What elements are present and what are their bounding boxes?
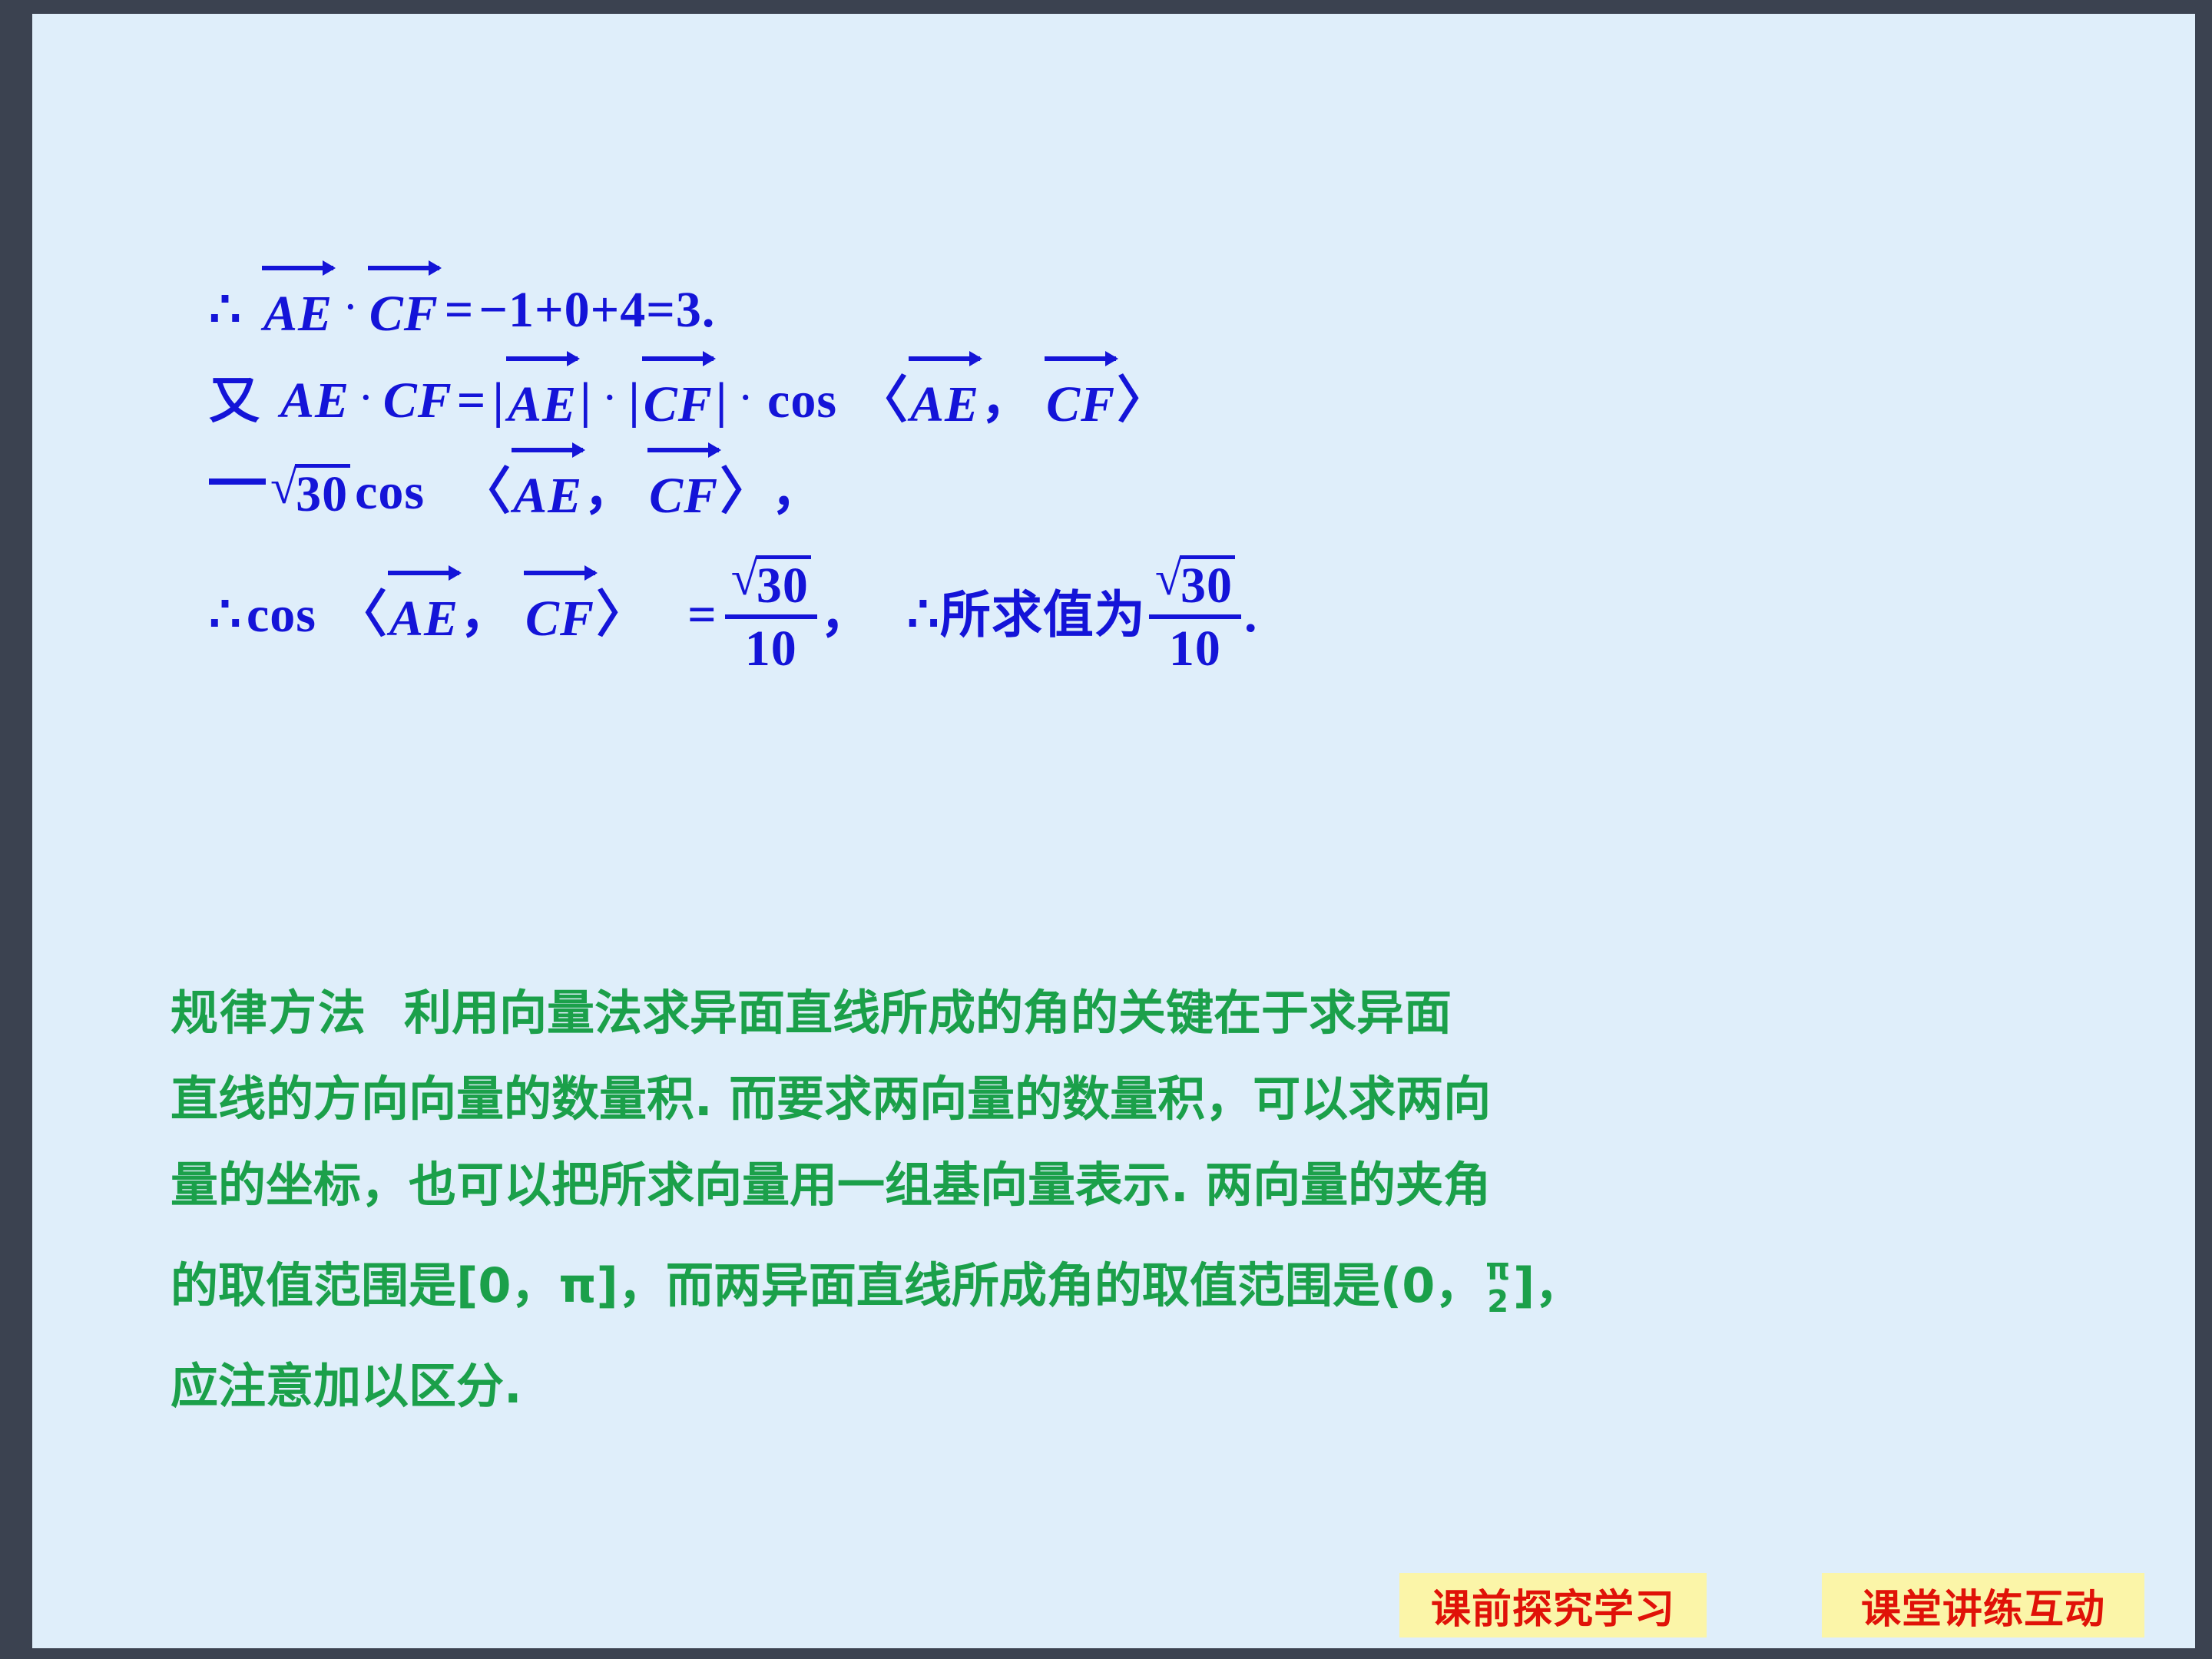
- equals-sign-dash: [209, 478, 266, 485]
- math-line-2: 又 AE · CF = | AE | · | CF | · cos 〈 AE ，…: [209, 373, 2052, 429]
- pre-class-study-button[interactable]: 课前探究学习: [1399, 1573, 1707, 1637]
- vector-ae: AE: [512, 469, 584, 520]
- math-line-4: ∴ cos 〈 AE ， CF 〉 = √ 30 10 ，: [209, 555, 2052, 674]
- tip-line-4-part-a: 的取值范围是[0，π]，而两异面直线所成角的取值范围是(0，: [171, 1257, 1482, 1313]
- fraction-numerator: √ 30: [725, 555, 817, 614]
- math-line-3: √ 30 cos 〈 AE ， CF 〉 ，: [209, 464, 2052, 520]
- dot-operator: ·: [740, 381, 752, 415]
- cos-function: cos: [355, 467, 425, 518]
- vector-ae: AE: [262, 287, 334, 338]
- angle-bracket-open: 〈: [460, 467, 512, 518]
- tip-line-5: 应注意加以区分.: [171, 1343, 2167, 1429]
- vector-ae: AE: [909, 378, 981, 429]
- angle-comma: ，: [981, 376, 1032, 426]
- separator-comma: ，: [820, 590, 872, 641]
- tip-line-3: 量的坐标，也可以把所求向量用一组基向量表示. 两向量的夹角: [171, 1142, 2167, 1228]
- slide-frame: ∴ AE · CF = −1+0+4=3. 又 AE · CF = | AE |…: [0, 0, 2212, 1659]
- abs-bar-open: |: [628, 376, 641, 426]
- tip-line-1: 规律方法利用向量法求异面直线所成的角的关键在于求异面: [171, 970, 2167, 1056]
- result-label: 所求值为: [940, 590, 1146, 641]
- therefore-symbol: ∴: [209, 590, 242, 641]
- abs-bar-close: |: [580, 376, 592, 426]
- slide-page: ∴ AE · CF = −1+0+4=3. 又 AE · CF = | AE |…: [32, 14, 2195, 1648]
- angle-bracket-close: 〉: [596, 590, 647, 641]
- method-summary-block: 规律方法利用向量法求异面直线所成的角的关键在于求异面 直线的方向向量的数量积. …: [171, 970, 2167, 1429]
- fraction-numerator: √ 30: [1149, 555, 1241, 614]
- bottom-navigation-bar: 课前探究学习 课堂讲练互动: [32, 1573, 2195, 1648]
- vector-cf: CF: [647, 469, 720, 520]
- equals-sign: =: [457, 376, 487, 426]
- tip-line-2: 直线的方向向量的数量积. 而要求两向量的数量积，可以求两向: [171, 1056, 2167, 1142]
- cos-function: cos: [767, 376, 837, 426]
- period: .: [1244, 590, 1258, 641]
- abs-bar-open: |: [492, 376, 505, 426]
- equals-sign: =: [445, 285, 475, 336]
- vector-cf: CF: [524, 592, 596, 643]
- tip-title: 规律方法: [171, 985, 367, 1041]
- therefore-symbol: ∴: [907, 590, 940, 641]
- therefore-symbol: ∴: [209, 285, 242, 336]
- dot-operator: ·: [604, 381, 617, 415]
- vector-ae: AE: [388, 592, 460, 643]
- plain-cf: CF: [383, 376, 452, 426]
- fraction-sqrt30-over-10: √ 30 10: [725, 555, 817, 674]
- tip-line-4: 的取值范围是[0，π]，而两异面直线所成角的取值范围是(0，π2]，: [171, 1228, 2167, 1343]
- abs-bar-close: |: [716, 376, 728, 426]
- fraction-denominator: 10: [725, 614, 817, 674]
- plain-ae: AE: [280, 376, 349, 426]
- angle-bracket-open: 〈: [336, 590, 388, 641]
- tip-line-1-text: 利用向量法求异面直线所成的角的关键在于求异面: [404, 985, 1452, 1041]
- vector-cf: CF: [368, 287, 440, 338]
- angle-comma: ，: [460, 590, 512, 641]
- equals-sign: =: [687, 590, 717, 641]
- angle-bracket-open: 〈: [857, 376, 909, 426]
- angle-bracket-close: 〉: [1117, 376, 1168, 426]
- two-denominator: 2: [1487, 1286, 1508, 1318]
- fraction-denominator: 10: [1149, 614, 1241, 674]
- line1-rhs: −1+0+4=3.: [478, 285, 715, 336]
- vector-cf: CF: [1045, 378, 1117, 429]
- angle-bracket-close: 〉: [720, 467, 771, 518]
- dot-operator: ·: [345, 290, 357, 324]
- pi-numerator: π: [1485, 1253, 1510, 1286]
- conjunction-you: 又: [209, 376, 260, 426]
- class-practice-button[interactable]: 课堂讲练互动: [1822, 1573, 2144, 1637]
- angle-comma: ，: [584, 467, 635, 518]
- trailing-comma: ，: [771, 467, 823, 518]
- fraction-result-sqrt30-over-10: √ 30 10: [1149, 555, 1241, 674]
- cos-function: cos: [247, 590, 316, 641]
- vector-cf: CF: [642, 378, 714, 429]
- vector-ae: AE: [506, 378, 578, 429]
- math-line-1: ∴ AE · CF = −1+0+4=3.: [209, 283, 2052, 338]
- math-derivation-block: ∴ AE · CF = −1+0+4=3. 又 AE · CF = | AE |…: [209, 283, 2052, 674]
- tip-line-4-part-b: ]，: [1513, 1257, 1582, 1313]
- pi-over-two-fraction: π2: [1485, 1253, 1510, 1318]
- radical-30: √ 30: [270, 464, 350, 520]
- dot-operator: ·: [360, 381, 373, 415]
